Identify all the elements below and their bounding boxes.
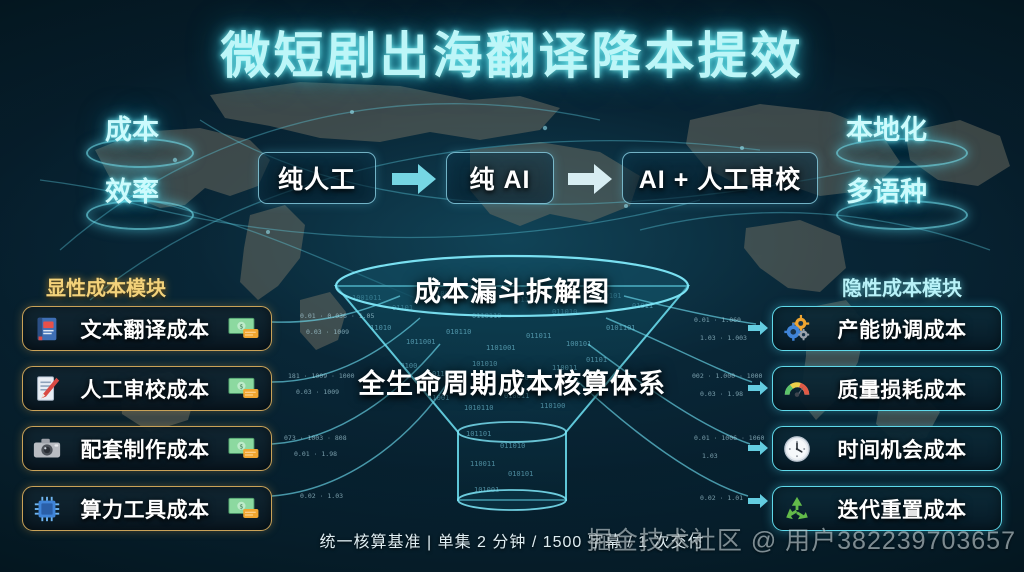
svg-text:$: $ [239,503,243,510]
explicit-card-label: 文本翻译成本 [62,314,228,344]
explicit-card-production[interactable]: 配套制作成本 $ [22,426,272,471]
explicit-card-label: 算力工具成本 [62,494,228,524]
page-title: 微短剧出海翻译降本提效 [0,16,1024,88]
implicit-card-time-opportunity[interactable]: 时间机会成本 [772,426,1002,471]
svg-text:0.01 · 1006 · 1060: 0.01 · 1006 · 1060 [694,434,765,442]
svg-text:$: $ [239,443,243,450]
svg-text:$: $ [239,323,243,330]
implicit-card-label: 产能协调成本 [812,314,992,344]
svg-text:0110110: 0110110 [472,312,502,320]
svg-text:0101101: 0101101 [606,324,636,332]
explicit-card-human-review[interactable]: 人工审校成本 $ [22,366,272,411]
flow-step-pure-ai[interactable]: 纯 AI [446,152,554,204]
implicit-cost-header: 隐性成本模块 [842,272,962,301]
svg-text:101101: 101101 [466,430,491,438]
svg-text:011010: 011010 [366,324,391,332]
implicit-card-quality-loss[interactable]: 质量损耗成本 [772,366,1002,411]
svg-text:1101001: 1101001 [486,344,516,352]
svg-text:0.02 · 1.03: 0.02 · 1.03 [300,492,343,500]
keyword-left-efficiency: 效率 [105,170,159,209]
explicit-card-compute-tools[interactable]: 算力工具成本 $ [22,486,272,531]
svg-text:101001: 101001 [474,486,499,494]
svg-text:011011: 011011 [526,332,551,340]
svg-text:0.02 · 1.01: 0.02 · 1.01 [700,494,743,502]
svg-text:110100: 110100 [540,402,565,410]
flow-step-ai-human-label: AI + 人工审校 [639,160,802,196]
flow-step-manual[interactable]: 纯人工 [258,152,376,204]
watermark: 掘金技术社区 @ 用户382239703657 [587,521,1016,557]
explicit-card-label: 配套制作成本 [62,434,228,464]
svg-text:0.01 · 1.060: 0.01 · 1.060 [694,316,741,324]
recycle-icon [782,494,812,524]
gauge-icon [782,374,812,404]
implicit-card-label: 迭代重置成本 [812,494,992,524]
svg-text:1.03: 1.03 [702,452,718,460]
svg-text:073 · 1003 · 808: 073 · 1003 · 808 [284,434,347,442]
svg-text:100101: 100101 [566,340,591,348]
arrow-right-icon-2 [566,162,614,196]
implicit-card-label: 时间机会成本 [812,434,992,464]
keyword-right-localization: 本地化 [846,108,927,147]
memo-pen-icon [32,374,62,404]
implicit-card-label: 质量损耗成本 [812,374,992,404]
clock-icon [782,434,812,464]
implicit-card-capacity[interactable]: 产能协调成本 [772,306,1002,351]
arrow-right-icon [390,162,438,196]
svg-text:110011: 110011 [470,460,495,468]
svg-text:0.01 · 1.98: 0.01 · 1.98 [294,450,337,458]
svg-text:0.01 · 0.036 · 1.05: 0.01 · 0.036 · 1.05 [300,312,374,320]
svg-text:011010: 011010 [552,308,577,316]
explicit-card-label: 人工审校成本 [62,374,228,404]
keyword-right-multilingual: 多语种 [846,170,927,209]
money-icon: $ [228,494,262,524]
svg-text:010101: 010101 [508,470,533,478]
svg-text:011010: 011010 [500,442,525,450]
gears-icon [782,314,812,344]
flow-step-pure-ai-label: 纯 AI [470,160,531,196]
flow-step-manual-label: 纯人工 [278,160,356,196]
explicit-cost-header: 显性成本模块 [46,272,166,301]
money-icon: $ [228,374,262,404]
flow-step-ai-human[interactable]: AI + 人工审校 [622,152,818,204]
chip-icon [32,494,62,524]
svg-text:1011001: 1011001 [406,338,436,346]
camera-icon [32,434,62,464]
keyword-left-cost: 成本 [105,108,159,147]
svg-text:010110: 010110 [446,328,471,336]
svg-text:1.03 · 1.003: 1.03 · 1.003 [700,334,747,342]
explicit-card-text-translation[interactable]: 文本翻译成本 $ [22,306,272,351]
svg-text:0.03 · 1009: 0.03 · 1009 [306,328,349,336]
infographic-canvas: 微短剧出海翻译降本提效 成本 效率 本地化 多语种 纯人工 纯 AI AI + … [0,0,1024,572]
dictionary-icon [32,314,62,344]
money-icon: $ [228,434,262,464]
money-icon: $ [228,314,262,344]
svg-text:1010110: 1010110 [464,404,494,412]
svg-text:$: $ [239,383,243,390]
